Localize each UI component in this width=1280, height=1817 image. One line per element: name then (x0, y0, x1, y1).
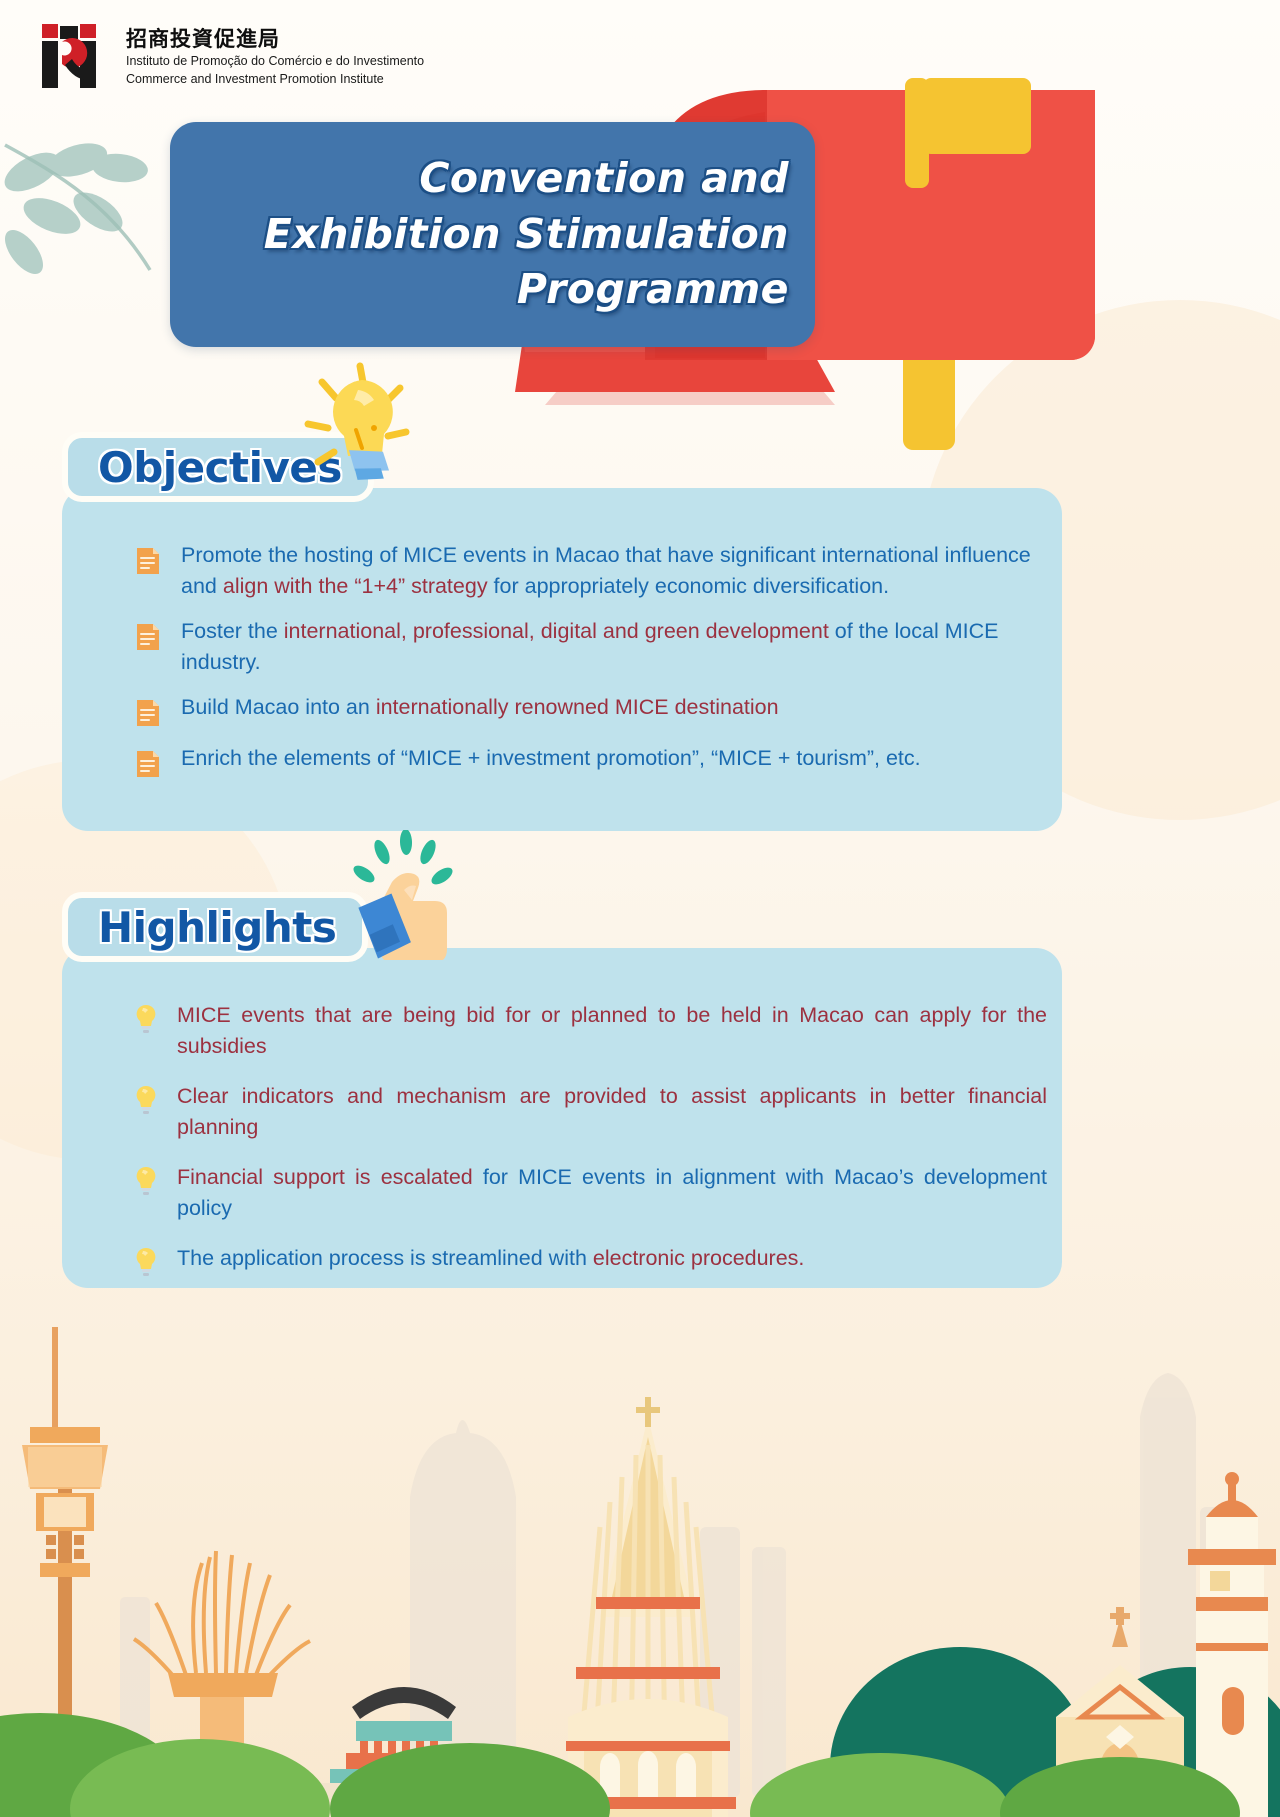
highlights-heading-pill: Highlights (62, 892, 368, 962)
title-line-2: Exhibition Stimulation (210, 207, 789, 263)
lightbulb-bullet-icon (135, 1085, 157, 1115)
list-item-text: The application process is streamlined w… (177, 1243, 804, 1274)
list-item: Foster the international, professional, … (135, 616, 1053, 677)
title-line-3: Programme (210, 262, 789, 318)
org-name-pt: Instituto de Promoção do Comércio e do I… (126, 52, 424, 70)
list-item-text: MICE events that are being bid for or pl… (177, 1000, 1047, 1061)
list-item-text: Foster the international, professional, … (181, 616, 1053, 677)
title-banner: Convention and Exhibition Stimulation Pr… (170, 122, 815, 347)
list-item-text: Enrich the elements of “MICE + investmen… (181, 743, 921, 774)
page-title: Convention and Exhibition Stimulation Pr… (170, 151, 815, 318)
objectives-bullet-list: Promote the hosting of MICE events in Ma… (135, 540, 1053, 779)
list-item: Financial support is escalated for MICE … (135, 1162, 1047, 1223)
lightbulb-bullet-icon (135, 1085, 157, 1115)
lightbulb-bullet-icon (135, 1247, 157, 1277)
list-item: MICE events that are being bid for or pl… (135, 1000, 1047, 1061)
list-item-text: Promote the hosting of MICE events in Ma… (181, 540, 1053, 601)
macao-skyline-illustration (0, 1297, 1280, 1817)
emphasis-text: Clear indicators and mechanism are provi… (177, 1084, 1047, 1139)
lightbulb-bullet-icon (135, 1166, 157, 1196)
document-icon (135, 622, 161, 652)
body-text: Build Macao into an (181, 695, 376, 719)
document-icon (135, 698, 161, 728)
emphasis-text: align with the “1+4” strategy (223, 574, 488, 598)
ipim-logo-icon (40, 22, 112, 90)
document-icon (135, 749, 161, 779)
highlights-heading-label: Highlights (98, 903, 336, 952)
body-text: Foster the (181, 619, 284, 643)
body-text: Enrich the elements of “MICE + investmen… (181, 746, 921, 770)
document-icon (135, 546, 161, 576)
document-icon (135, 622, 161, 652)
document-icon (135, 698, 161, 728)
body-text: with (543, 1246, 593, 1270)
lightbulb-bullet-icon (135, 1247, 157, 1277)
emphasis-text: Financial support is escalated (177, 1165, 473, 1189)
poster-canvas: 招商投資促進局 Instituto de Promoção do Comérci… (0, 0, 1280, 1817)
emphasis-text: international, professional, digital and… (284, 619, 829, 643)
emphasis-text: internationally renowned MICE destinatio… (376, 695, 779, 719)
title-line-1: Convention and (210, 151, 789, 207)
org-name-cn: 招商投資促進局 (126, 26, 424, 52)
document-icon (135, 546, 161, 576)
emphasis-text: MICE events that are being bid for or pl… (177, 1003, 1047, 1058)
list-item: The application process is streamlined w… (135, 1243, 1047, 1277)
objectives-heading-pill: Objectives (62, 432, 374, 502)
body-text: The application process is streamlined (177, 1246, 543, 1270)
list-item: Promote the hosting of MICE events in Ma… (135, 540, 1053, 601)
objectives-heading-label: Objectives (98, 443, 342, 492)
org-name-en: Commerce and Investment Promotion Instit… (126, 70, 424, 88)
lightbulb-bullet-icon (135, 1004, 157, 1034)
list-item-text: Financial support is escalated for MICE … (177, 1162, 1047, 1223)
body-text: for appropriately economic diversificati… (488, 574, 890, 598)
highlights-bullet-list: MICE events that are being bid for or pl… (135, 1000, 1047, 1297)
organization-logo-block: 招商投資促進局 Instituto de Promoção do Comérci… (40, 22, 424, 90)
emphasis-text: electronic procedures. (593, 1246, 805, 1270)
list-item: Enrich the elements of “MICE + investmen… (135, 743, 1053, 779)
lightbulb-bullet-icon (135, 1004, 157, 1034)
document-icon (135, 749, 161, 779)
lightbulb-bullet-icon (135, 1166, 157, 1196)
list-item: Build Macao into an internationally reno… (135, 692, 1053, 728)
list-item-text: Clear indicators and mechanism are provi… (177, 1081, 1047, 1142)
list-item: Clear indicators and mechanism are provi… (135, 1081, 1047, 1142)
list-item-text: Build Macao into an internationally reno… (181, 692, 779, 723)
